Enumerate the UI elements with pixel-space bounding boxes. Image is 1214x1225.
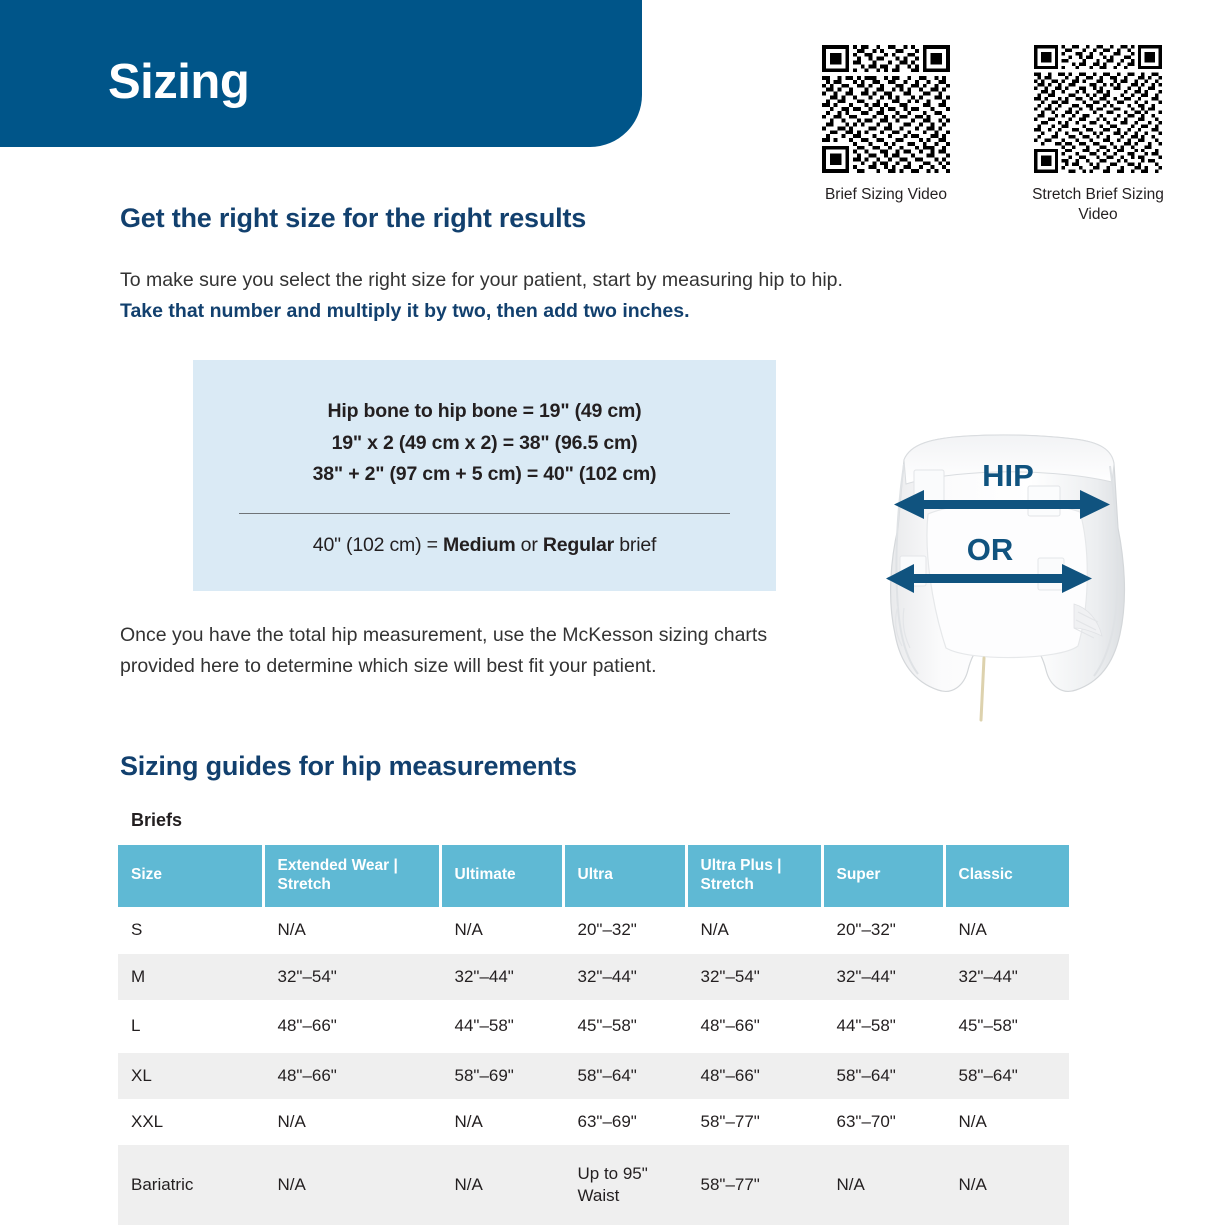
or-label: OR: [967, 532, 1014, 567]
cell-ultimate: N/A: [440, 907, 563, 954]
qr-code-icon[interactable]: [1034, 45, 1162, 173]
cell-ultra: 45"–58": [563, 1000, 686, 1053]
cell-ultra-plus: 48"–66": [686, 1000, 822, 1053]
cell-super: 44"–58": [822, 1000, 944, 1053]
cell-super: 32"–44": [822, 954, 944, 1000]
cell-ultimate: 44"–58": [440, 1000, 563, 1053]
table-row: S N/A N/A 20"–32" N/A 20"–32" N/A: [118, 907, 1069, 954]
brief-product-graphic: HIP OR: [862, 408, 1152, 738]
qr-block-brief-sizing-video[interactable]: Brief Sizing Video: [792, 45, 980, 225]
cell-classic: 58"–64": [944, 1053, 1069, 1099]
intro-paragraph-emphasis: Take that number and multiply it by two,…: [120, 300, 690, 322]
table-caption-briefs: Briefs: [131, 810, 182, 831]
cell-ultra: 32"–44": [563, 954, 686, 1000]
qr-block-stretch-brief-sizing-video[interactable]: Stretch Brief Sizing Video: [1004, 45, 1192, 225]
closing-paragraph: Once you have the total hip measurement,…: [120, 620, 840, 682]
cell-ultra: 63"–69": [563, 1099, 686, 1145]
cell-ultimate: N/A: [440, 1099, 563, 1145]
table-row: M 32"–54" 32"–44" 32"–44" 32"–54" 32"–44…: [118, 954, 1069, 1000]
qr-caption: Brief Sizing Video: [825, 185, 947, 205]
cell-ultra-plus: 48"–66": [686, 1053, 822, 1099]
column-header-super: Super: [822, 845, 944, 907]
calc-result: 40" (102 cm) = Medium or Regular brief: [233, 534, 736, 557]
cell-classic: 32"–44": [944, 954, 1069, 1000]
cell-extended-wear: N/A: [263, 1099, 440, 1145]
section-heading-get-right-size: Get the right size for the right results: [120, 203, 586, 234]
calc-line-3: 38" + 2" (97 cm + 5 cm) = 40" (102 cm): [233, 459, 736, 491]
qr-code-icon[interactable]: [822, 45, 950, 173]
cell-size: XL: [118, 1053, 263, 1099]
column-header-ultra-plus-stretch: Ultra Plus | Stretch: [686, 845, 822, 907]
calc-result-prefix: 40" (102 cm) =: [313, 534, 443, 556]
cell-super: N/A: [822, 1145, 944, 1225]
table-row: XXL N/A N/A 63"–69" 58"–77" 63"–70" N/A: [118, 1099, 1069, 1145]
cell-extended-wear: N/A: [263, 907, 440, 954]
cell-size: XXL: [118, 1099, 263, 1145]
cell-size: M: [118, 954, 263, 1000]
cell-ultra: Up to 95" Waist: [563, 1145, 686, 1225]
intro-paragraph-normal: To make sure you select the right size f…: [120, 269, 843, 291]
cell-size: Bariatric: [118, 1145, 263, 1225]
cell-super: 63"–70": [822, 1099, 944, 1145]
column-header-ultimate: Ultimate: [440, 845, 563, 907]
cell-ultra: 58"–64": [563, 1053, 686, 1099]
cell-ultra-plus: N/A: [686, 907, 822, 954]
calculation-box: Hip bone to hip bone = 19" (49 cm) 19" x…: [193, 360, 776, 591]
qr-code-group: Brief Sizing Video: [792, 45, 1192, 225]
cell-ultra-plus: 32"–54": [686, 954, 822, 1000]
cell-classic: N/A: [944, 1145, 1069, 1225]
intro-paragraph: To make sure you select the right size f…: [120, 265, 880, 327]
calc-result-suffix: brief: [614, 534, 656, 556]
page-title: Sizing: [108, 58, 249, 107]
cell-classic: 45"–58": [944, 1000, 1069, 1053]
cell-extended-wear: N/A: [263, 1145, 440, 1225]
hip-label: HIP: [982, 458, 1034, 493]
column-header-extended-wear-stretch: Extended Wear | Stretch: [263, 845, 440, 907]
wetness-indicator-stripe: [981, 658, 984, 720]
cell-size: S: [118, 907, 263, 954]
calc-result-size-medium: Medium: [443, 534, 515, 556]
cell-ultra: 20"–32": [563, 907, 686, 954]
table-row: Bariatric N/A N/A Up to 95" Waist 58"–77…: [118, 1145, 1069, 1225]
cell-size: L: [118, 1000, 263, 1053]
section-heading-sizing-guides: Sizing guides for hip measurements: [120, 751, 577, 782]
cell-ultra-plus: 58"–77": [686, 1145, 822, 1225]
qr-caption: Stretch Brief Sizing Video: [1011, 185, 1186, 225]
table-row: XL 48"–66" 58"–69" 58"–64" 48"–66" 58"–6…: [118, 1053, 1069, 1099]
cell-extended-wear: 48"–66": [263, 1053, 440, 1099]
column-header-size: Size: [118, 845, 263, 907]
calc-divider: [239, 513, 730, 514]
cell-classic: N/A: [944, 1099, 1069, 1145]
cell-extended-wear: 32"–54": [263, 954, 440, 1000]
column-header-ultra: Ultra: [563, 845, 686, 907]
calc-result-conjunction: or: [515, 534, 542, 556]
cell-ultimate: 58"–69": [440, 1053, 563, 1099]
brief-product-illustration: HIP OR: [862, 408, 1152, 738]
table-header-row: Size Extended Wear | Stretch Ultimate Ul…: [118, 845, 1069, 907]
column-header-classic: Classic: [944, 845, 1069, 907]
cell-ultimate: 32"–44": [440, 954, 563, 1000]
calc-line-2: 19" x 2 (49 cm x 2) = 38" (96.5 cm): [233, 428, 736, 460]
table-row: L 48"–66" 44"–58" 45"–58" 48"–66" 44"–58…: [118, 1000, 1069, 1053]
cell-super: 20"–32": [822, 907, 944, 954]
cell-extended-wear: 48"–66": [263, 1000, 440, 1053]
cell-ultra-plus: 58"–77": [686, 1099, 822, 1145]
calc-result-size-regular: Regular: [543, 534, 614, 556]
cell-classic: N/A: [944, 907, 1069, 954]
cell-super: 58"–64": [822, 1053, 944, 1099]
cell-ultimate: N/A: [440, 1145, 563, 1225]
calc-line-1: Hip bone to hip bone = 19" (49 cm): [233, 396, 736, 428]
sizing-table-briefs: Size Extended Wear | Stretch Ultimate Ul…: [118, 845, 1071, 1225]
header-banner: Sizing: [0, 0, 642, 147]
